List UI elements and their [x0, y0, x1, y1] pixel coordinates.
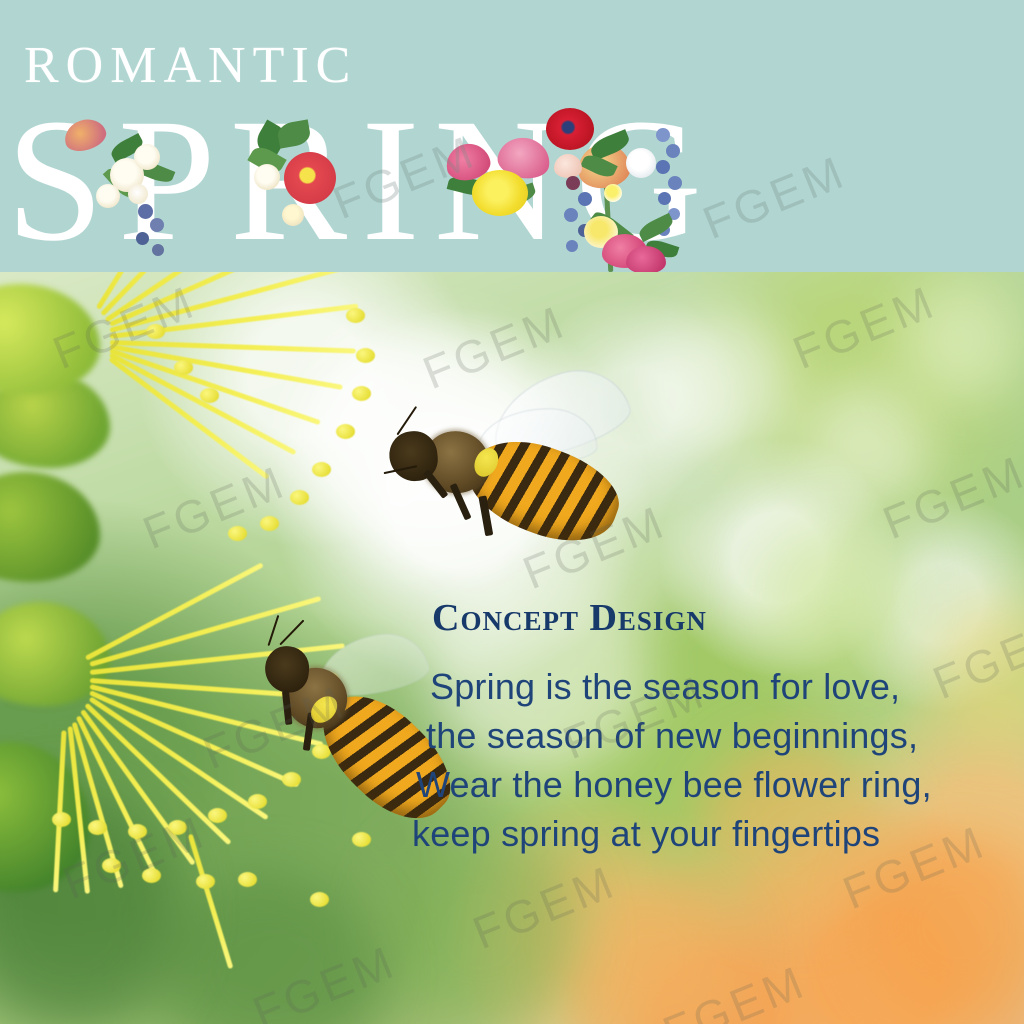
bokeh-disc	[800, 382, 930, 512]
bokeh-disc	[560, 872, 740, 1024]
poster-canvas: ROMANTIC SPRING	[0, 0, 1024, 1024]
tagline-lines: Spring is the season for love, the seaso…	[412, 662, 1012, 858]
tagline-line: keep spring at your fingertips	[412, 809, 1012, 858]
tagline-line: the season of new beginnings,	[426, 711, 1012, 760]
hero-photo: Concept Design Spring is the season for …	[0, 272, 1024, 1024]
concept-design-heading: Concept Design	[432, 596, 1012, 640]
flower-pod	[0, 284, 100, 394]
honey-bee-upper	[346, 345, 634, 599]
bokeh-disc	[640, 312, 790, 462]
long-filament	[188, 834, 234, 969]
flower-pod	[0, 472, 100, 582]
tagline-line: Wear the honey bee flower ring,	[416, 760, 1012, 809]
bokeh-disc	[900, 282, 1020, 402]
tagline-line: Spring is the season for love,	[430, 662, 1012, 711]
bee-antenna	[279, 620, 304, 646]
copy-block: Concept Design Spring is the season for …	[412, 596, 1012, 858]
spring-title-group: SPRING	[6, 92, 726, 270]
header-band: ROMANTIC SPRING	[0, 0, 1024, 272]
